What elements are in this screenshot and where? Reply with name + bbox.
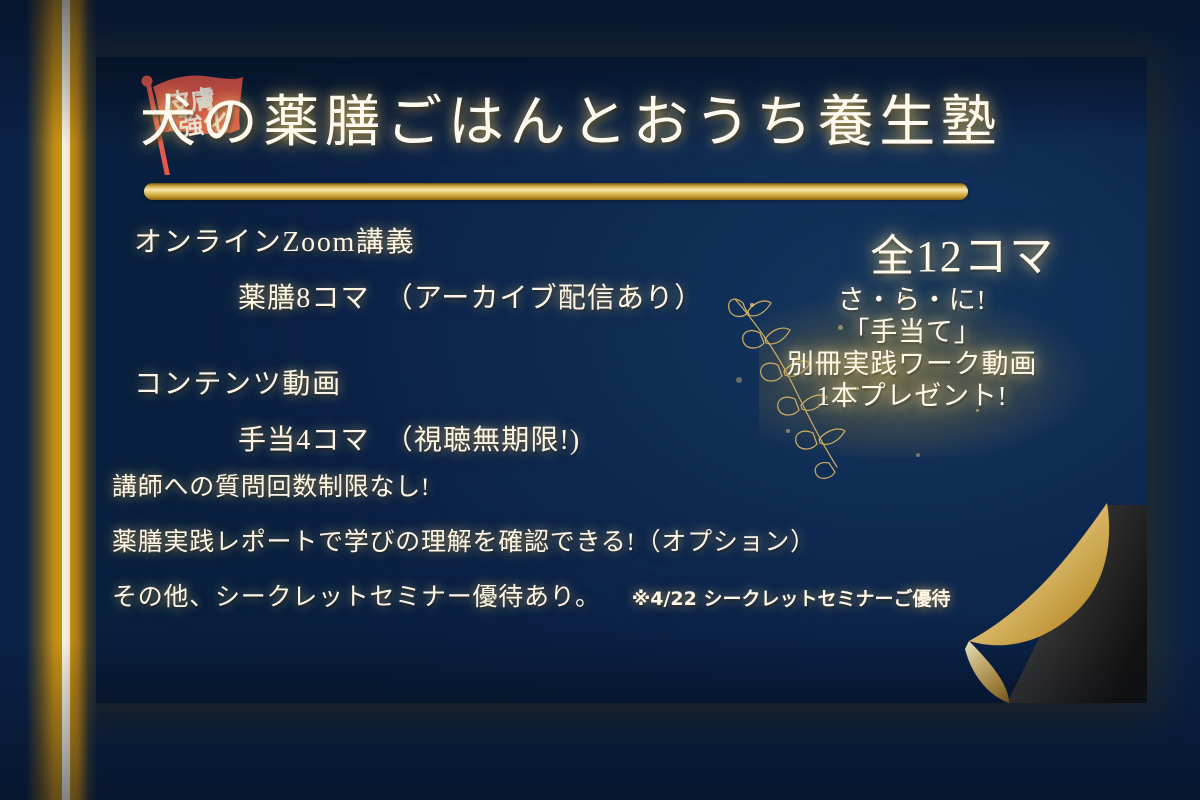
- page-curl-icon: [947, 503, 1147, 703]
- bonus-promo-block: さ・ら・に! 「手当て」 別冊実践ワーク動画 1本プレゼント!: [723, 285, 1101, 461]
- promo-line-4: 1本プレゼント!: [723, 381, 1101, 413]
- total-sessions-badge: 全12コマ: [870, 220, 1055, 284]
- detail-group-online: オンラインZoom講義 薬膳8コマ （アーカイブ配信あり）: [134, 220, 734, 316]
- page-curl-decoration: [947, 503, 1147, 703]
- title-underline-bar: [144, 183, 968, 200]
- title-block: 犬の薬膳ごはんとおうち養生塾: [140, 95, 1120, 151]
- page-title: 犬の薬膳ごはんとおうち養生塾: [140, 95, 1120, 151]
- detail-sub: 薬膳8コマ （アーカイブ配信あり）: [238, 276, 734, 316]
- note-line-1: 講師への質問回数制限なし!: [112, 475, 1122, 500]
- promo-line-2: 「手当て」: [723, 317, 1101, 349]
- detail-lead: コンテンツ動画: [134, 362, 734, 402]
- promo-card: 皮膚 強化 犬の薬膳ごはんとおうち養生塾 全12コマ オンラインZoom講義 薬…: [96, 57, 1147, 703]
- detail-sub: 手当4コマ （視聴無期限!): [238, 418, 734, 458]
- banner-background: 皮膚 強化 犬の薬膳ごはんとおうち養生塾 全12コマ オンラインZoom講義 薬…: [0, 0, 1200, 800]
- note-line-3-annotation: ※4/22 シークレットセミナーご優待: [632, 588, 951, 610]
- gold-ribbon-right: [70, 0, 98, 800]
- detail-group-video: コンテンツ動画 手当4コマ （視聴無期限!): [134, 362, 734, 458]
- promo-line-1: さ・ら・に!: [723, 285, 1101, 317]
- promo-text: さ・ら・に! 「手当て」 別冊実践ワーク動画 1本プレゼント!: [723, 285, 1101, 412]
- ribbon-divider-line: [62, 0, 70, 800]
- detail-lead: オンラインZoom講義: [134, 220, 734, 260]
- gold-ribbon-left: [26, 0, 62, 800]
- note-line-3-main: その他、シークレットセミナー優待あり。: [112, 584, 601, 611]
- promo-line-3: 別冊実践ワーク動画: [723, 349, 1101, 381]
- course-details-list: オンラインZoom講義 薬膳8コマ （アーカイブ配信あり） コンテンツ動画 手当…: [134, 220, 734, 504]
